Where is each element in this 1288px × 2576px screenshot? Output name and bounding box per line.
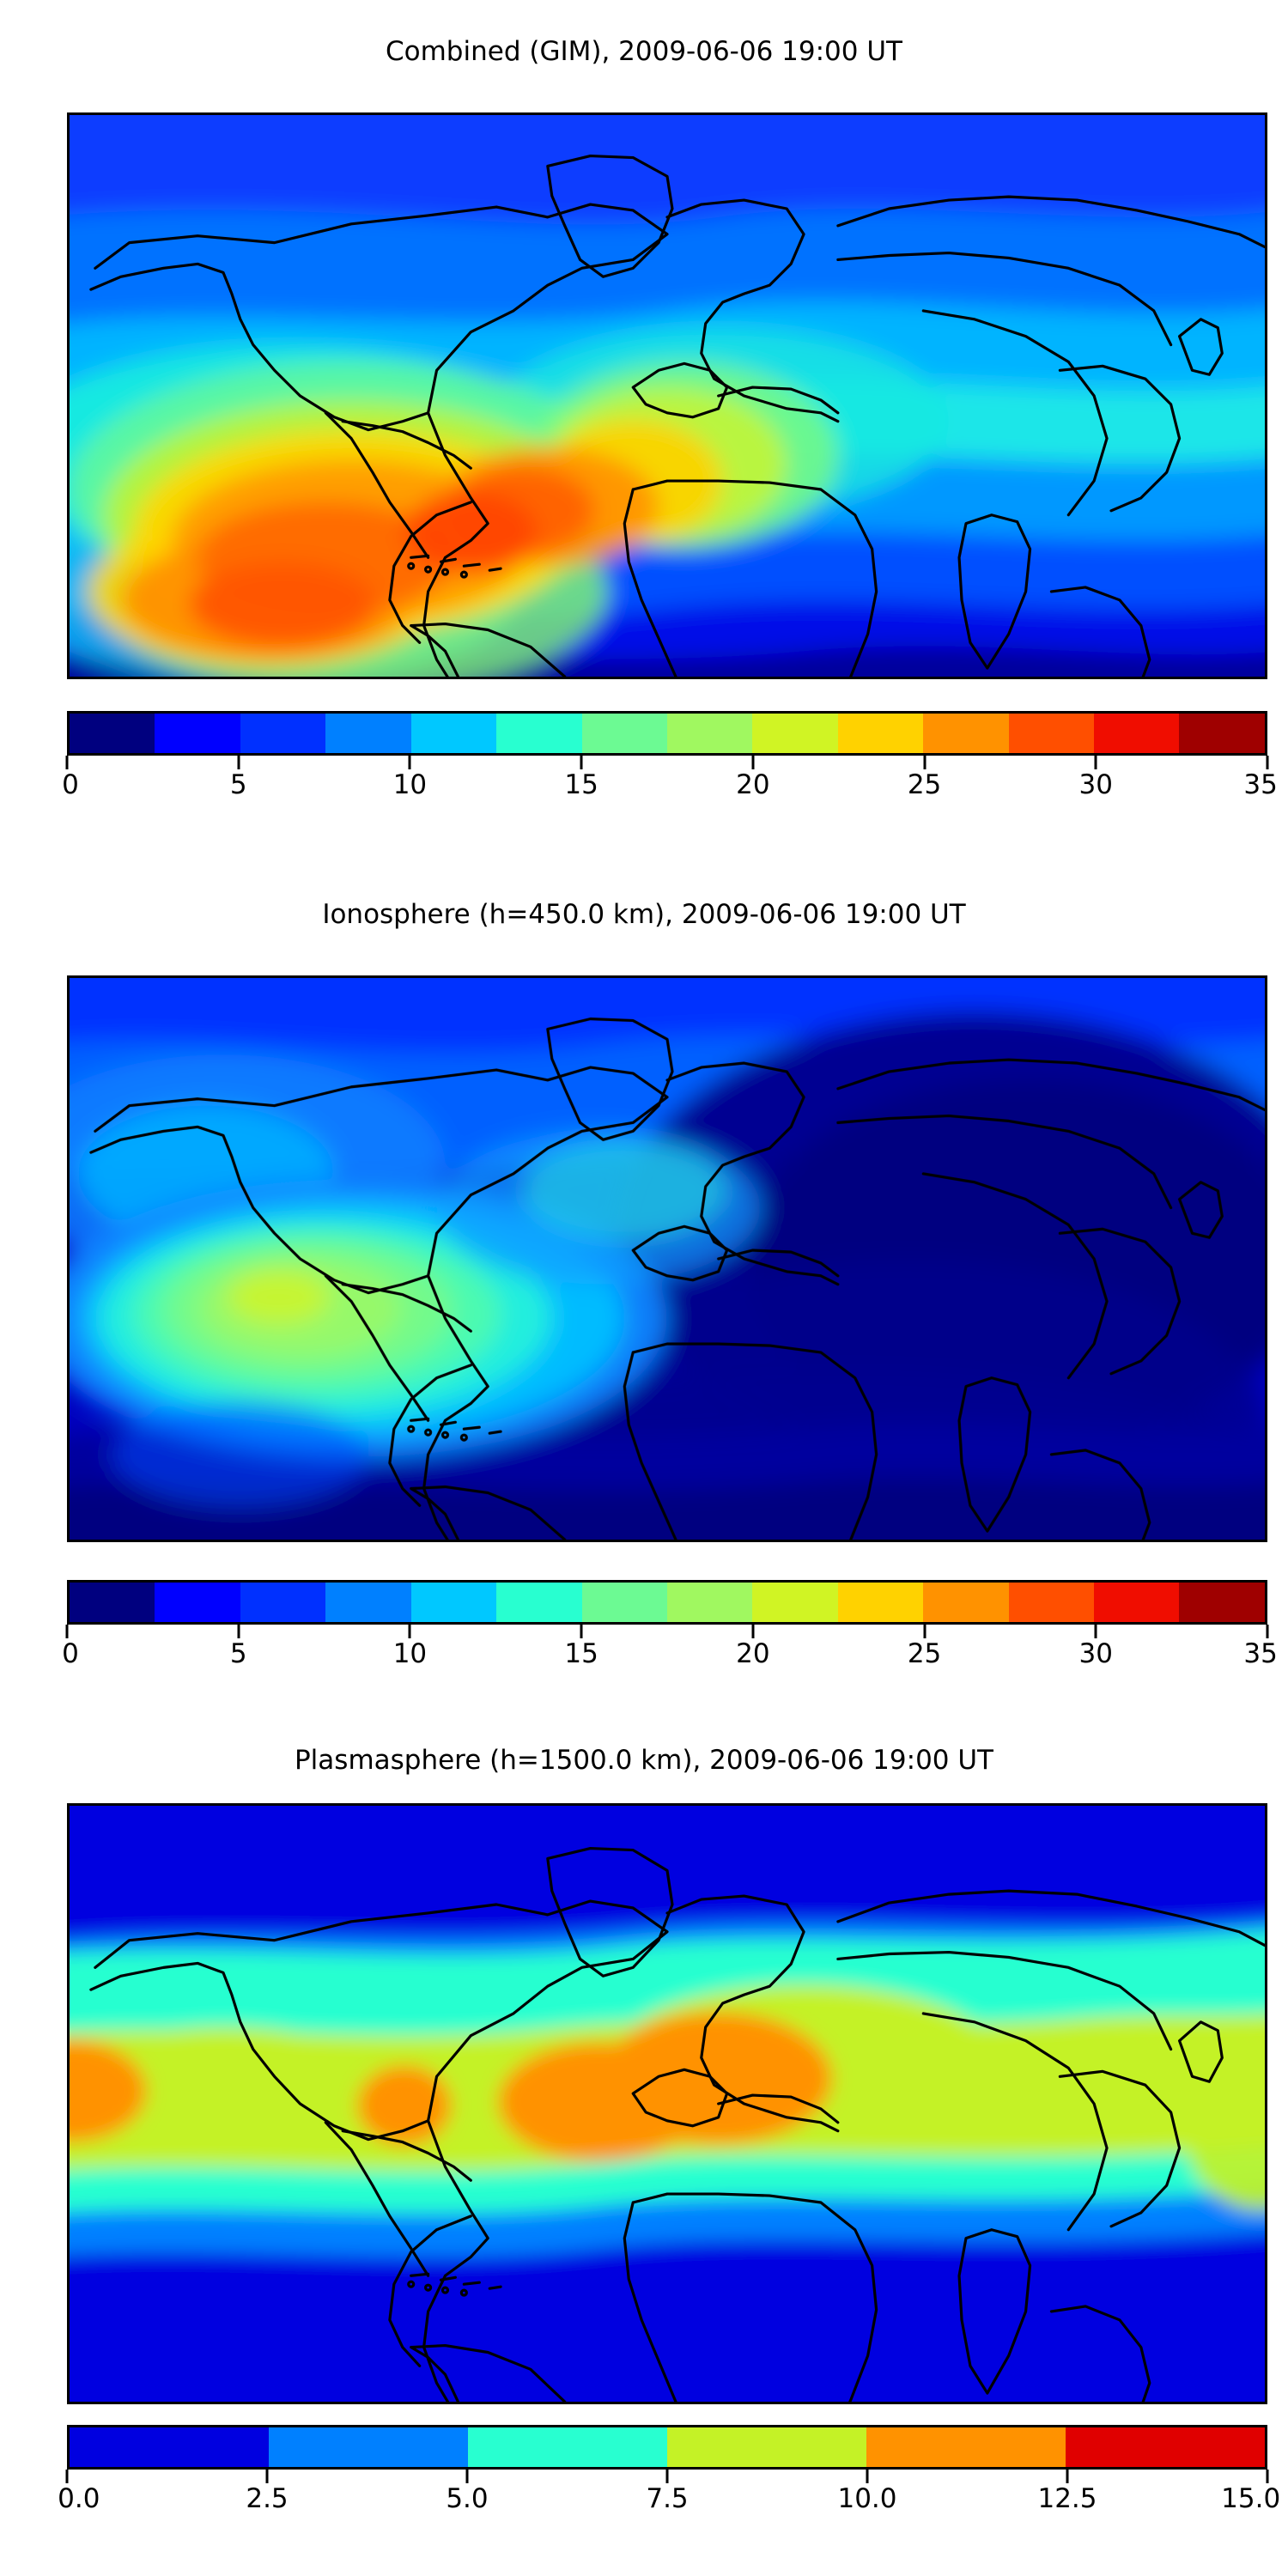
- cbar-seg: [1009, 714, 1094, 753]
- cbar-seg: [1094, 714, 1179, 753]
- cbar-tick-label: 10: [393, 1638, 427, 1669]
- cbar-tick-label: 12.5: [1037, 2483, 1097, 2514]
- panel-combined-gim: Combined (GIM), 2009-06-06 19:00 UT: [0, 34, 1288, 69]
- colorbar-ionosphere-bar[interactable]: [67, 1580, 1267, 1625]
- map-ionosphere[interactable]: [67, 975, 1267, 1542]
- cbar-seg: [752, 714, 837, 753]
- colorbar-combined-bar[interactable]: [67, 711, 1267, 756]
- cbar-seg: [269, 2427, 468, 2467]
- map-plasmasphere[interactable]: [67, 1803, 1267, 2404]
- cbar-tick-label: 15.0: [1221, 2483, 1280, 2514]
- cbar-tick-label: 35: [1243, 769, 1277, 800]
- cbar-seg: [496, 1583, 581, 1622]
- colorbar-plasmasphere-labels: 0.0 2.5 5.0 7.5 10.0 12.5 15.0: [67, 2483, 1267, 2521]
- cbar-seg: [1066, 2427, 1265, 2467]
- cbar-seg: [155, 1583, 240, 1622]
- colorbar-ionosphere: 0 5 10 15 20 25 30 35: [67, 1580, 1267, 1676]
- cbar-seg: [667, 714, 752, 753]
- cbar-seg: [923, 1583, 1008, 1622]
- map-combined-gim[interactable]: [67, 112, 1267, 679]
- cbar-tick-label: 0: [62, 769, 79, 800]
- cbar-seg: [923, 714, 1008, 753]
- cbar-seg: [325, 714, 410, 753]
- cbar-seg: [667, 2427, 866, 2467]
- cbar-seg: [582, 714, 667, 753]
- cbar-tick-label: 35: [1243, 1638, 1277, 1669]
- cbar-seg: [240, 1583, 325, 1622]
- colorbar-combined-labels: 0 5 10 15 20 25 30 35: [67, 769, 1267, 807]
- cbar-seg: [325, 1583, 410, 1622]
- cbar-seg: [70, 714, 155, 753]
- cbar-tick-label: 2.5: [246, 2483, 288, 2514]
- panel-ionosphere: Ionosphere (h=450.0 km), 2009-06-06 19:0…: [0, 897, 1288, 932]
- map-canvas-combined: [70, 115, 1265, 677]
- cbar-tick-label: 10: [393, 769, 427, 800]
- cbar-tick-label: 20: [736, 769, 769, 800]
- cbar-tick-label: 25: [908, 1638, 941, 1669]
- cbar-seg: [866, 2427, 1066, 2467]
- cbar-seg: [582, 1583, 667, 1622]
- cbar-seg: [468, 2427, 667, 2467]
- cbar-tick-label: 10.0: [837, 2483, 896, 2514]
- cbar-tick-label: 30: [1079, 769, 1113, 800]
- cbar-seg: [1094, 1583, 1179, 1622]
- panel-title-ionosphere: Ionosphere (h=450.0 km), 2009-06-06 19:0…: [0, 897, 1288, 932]
- panel-plasmasphere: Plasmasphere (h=1500.0 km), 2009-06-06 1…: [0, 1743, 1288, 1777]
- cbar-seg: [496, 714, 581, 753]
- colorbar-plasmasphere-ticks: [67, 2470, 1267, 2483]
- cbar-seg: [411, 1583, 496, 1622]
- cbar-seg: [70, 1583, 155, 1622]
- cbar-tick-label: 0.0: [58, 2483, 100, 2514]
- cbar-seg: [838, 1583, 923, 1622]
- cbar-seg: [1009, 1583, 1094, 1622]
- panel-title-combined: Combined (GIM), 2009-06-06 19:00 UT: [0, 34, 1288, 69]
- panel-title-plasmasphere: Plasmasphere (h=1500.0 km), 2009-06-06 1…: [0, 1743, 1288, 1777]
- map-canvas-plasmasphere: [70, 1806, 1265, 2402]
- cbar-seg: [240, 714, 325, 753]
- cbar-tick-label: 7.5: [646, 2483, 688, 2514]
- colorbar-ionosphere-labels: 0 5 10 15 20 25 30 35: [67, 1638, 1267, 1676]
- colorbar-combined: 0 5 10 15 20 25 30 35: [67, 711, 1267, 807]
- cbar-seg: [752, 1583, 837, 1622]
- cbar-seg: [1179, 714, 1264, 753]
- cbar-seg: [667, 1583, 752, 1622]
- colorbar-plasmasphere: 0.0 2.5 5.0 7.5 10.0 12.5 15.0: [67, 2425, 1267, 2521]
- cbar-seg: [411, 714, 496, 753]
- colorbar-combined-ticks: [67, 756, 1267, 769]
- tec-figure: Combined (GIM), 2009-06-06 19:00 UT: [0, 0, 1288, 2576]
- cbar-tick-label: 25: [908, 769, 941, 800]
- colorbar-ionosphere-ticks: [67, 1625, 1267, 1638]
- cbar-seg: [70, 2427, 269, 2467]
- cbar-tick-label: 30: [1079, 1638, 1113, 1669]
- cbar-seg: [1179, 1583, 1264, 1622]
- cbar-tick-label: 5: [230, 769, 247, 800]
- cbar-tick-label: 20: [736, 1638, 769, 1669]
- cbar-seg: [838, 714, 923, 753]
- cbar-tick-label: 15: [564, 1638, 598, 1669]
- cbar-seg: [155, 714, 240, 753]
- map-canvas-ionosphere: [70, 978, 1265, 1540]
- cbar-tick-label: 0: [62, 1638, 79, 1669]
- cbar-tick-label: 5.0: [446, 2483, 488, 2514]
- cbar-tick-label: 5: [230, 1638, 247, 1669]
- colorbar-plasmasphere-bar[interactable]: [67, 2425, 1267, 2470]
- cbar-tick-label: 15: [564, 769, 598, 800]
